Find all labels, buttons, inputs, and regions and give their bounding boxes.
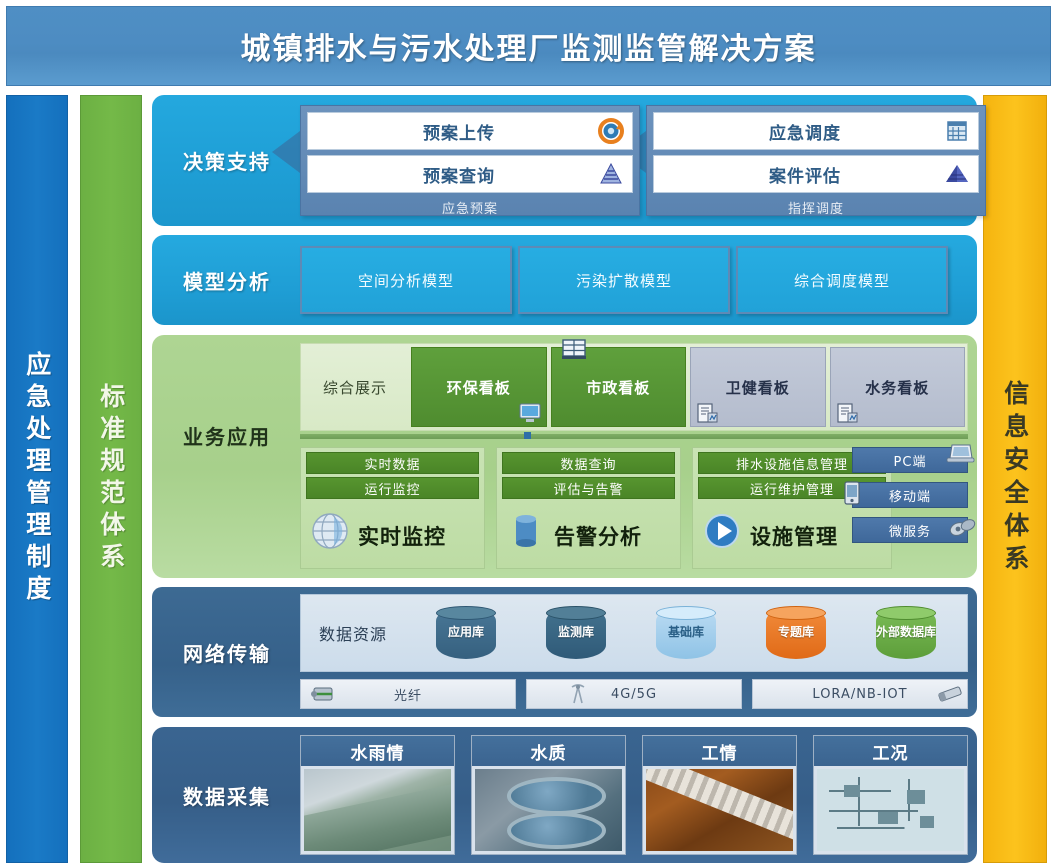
client-label: 微服务 bbox=[889, 521, 931, 540]
decision-item-plan-upload[interactable]: 预案上传 bbox=[307, 112, 633, 150]
database-label: 基础库 bbox=[668, 626, 704, 639]
database-external[interactable]: 外部数据库 bbox=[876, 607, 936, 659]
sidebar-emergency-label: 应急处理管理制度 bbox=[23, 351, 51, 607]
comprehensive-display-label: 综合展示 bbox=[301, 344, 409, 430]
layer-business-application: 业务应用 综合展示 环保看板 市政看板 bbox=[152, 335, 977, 578]
decision-item-label: 预案查询 bbox=[308, 162, 632, 187]
fiber-spool-icon bbox=[309, 683, 339, 705]
client-endpoints: PC端 移动端 微服务 bbox=[852, 447, 968, 569]
board-label: 环保看板 bbox=[447, 377, 511, 398]
window-icon bbox=[560, 338, 588, 362]
board-municipal[interactable]: 市政看板 bbox=[551, 347, 687, 427]
database-label: 专题库 bbox=[778, 626, 814, 639]
decision-item-case-evaluation[interactable]: 案件评估 bbox=[653, 155, 979, 193]
app-tag[interactable]: 数据查询 bbox=[502, 452, 675, 474]
layer-business-label: 业务应用 bbox=[152, 390, 302, 480]
app-main-alarm-analysis[interactable]: 告警分析 bbox=[502, 505, 675, 567]
comprehensive-display-strip: 综合展示 环保看板 市政看板 bbox=[300, 343, 968, 431]
board-label: 市政看板 bbox=[586, 377, 650, 398]
app-tag[interactable]: 评估与告警 bbox=[502, 477, 675, 499]
database-thematic[interactable]: 专题库 bbox=[766, 607, 826, 659]
play-circle-icon bbox=[700, 509, 744, 553]
data-resource-panel: 数据资源 应用库 监测库 基础库 bbox=[300, 594, 968, 672]
decision-item-plan-query[interactable]: 预案查询 bbox=[307, 155, 633, 193]
transport-fiber[interactable]: 光纤 bbox=[300, 679, 516, 709]
client-mobile[interactable]: 移动端 bbox=[852, 482, 968, 508]
data-resource-label: 数据资源 bbox=[301, 621, 405, 645]
app-tag[interactable]: 运行监控 bbox=[306, 477, 479, 499]
decision-item-label: 应急调度 bbox=[654, 119, 978, 144]
decision-group-command-dispatch: 应急调度 案件评估 指挥调度 bbox=[646, 105, 986, 216]
sidebar-information-security: 信息安全体系 bbox=[983, 95, 1047, 863]
database-label: 应用库 bbox=[448, 626, 484, 639]
architecture-diagram: 城镇排水与污水处理厂监测监管解决方案 应急处理管理制度 标准规范体系 信息安全体… bbox=[0, 0, 1055, 868]
display-strip-underline bbox=[300, 434, 968, 439]
decision-item-label: 案件评估 bbox=[654, 162, 978, 187]
report-icon bbox=[835, 402, 859, 424]
client-label: PC端 bbox=[894, 451, 927, 470]
transport-label: 4G/5G bbox=[611, 687, 657, 702]
sensor-device-icon bbox=[935, 683, 965, 705]
database-icon bbox=[504, 509, 548, 553]
layer-model-label: 模型分析 bbox=[152, 235, 302, 325]
data-source-list: 水雨情 水质 工情 工况 bbox=[300, 735, 968, 855]
layer-decision-support: 决策支持 预案上传 预案查询 bbox=[152, 95, 977, 226]
data-source-water-quality[interactable]: 水质 bbox=[471, 735, 626, 855]
board-label: 水务看板 bbox=[865, 377, 929, 398]
cylinder-top bbox=[766, 606, 826, 620]
report-icon bbox=[695, 402, 719, 424]
sidebar-standard-system: 标准规范体系 bbox=[80, 95, 142, 863]
data-source-title: 水雨情 bbox=[301, 736, 454, 766]
database-label: 外部数据库 bbox=[876, 626, 936, 639]
data-source-works[interactable]: 工情 bbox=[642, 735, 797, 855]
model-box-pollution[interactable]: 污染扩散模型 bbox=[518, 246, 730, 314]
board-environment[interactable]: 环保看板 bbox=[411, 347, 547, 427]
transport-label: 光纤 bbox=[394, 685, 422, 704]
app-column-realtime: 实时数据 运行监控 实时监控 bbox=[300, 447, 485, 569]
data-source-title: 水质 bbox=[472, 736, 625, 766]
antenna-tower-icon bbox=[563, 683, 593, 705]
mobile-phone-icon bbox=[841, 480, 863, 506]
database-list: 应用库 监测库 基础库 专题库 bbox=[405, 607, 967, 659]
transport-cellular[interactable]: 4G/5G bbox=[526, 679, 742, 709]
layer-network-transmission: 网络传输 数据资源 应用库 监测库 基础库 bbox=[152, 587, 977, 717]
page-title: 城镇排水与污水处理厂监测监管解决方案 bbox=[241, 24, 817, 68]
decision-item-emergency-dispatch[interactable]: 应急调度 bbox=[653, 112, 979, 150]
client-pc[interactable]: PC端 bbox=[852, 447, 968, 473]
pyramid-solid-icon bbox=[944, 161, 970, 187]
pyramid-icon bbox=[598, 161, 624, 187]
treatment-basins-photo bbox=[475, 769, 622, 851]
app-tag[interactable]: 实时数据 bbox=[306, 452, 479, 474]
client-microservice[interactable]: 微服务 bbox=[852, 517, 968, 543]
client-label: 移动端 bbox=[889, 486, 931, 505]
transport-lora[interactable]: LORA/NB-IOT bbox=[752, 679, 968, 709]
sidebar-emergency-management: 应急处理管理制度 bbox=[6, 95, 68, 863]
data-source-title: 工况 bbox=[814, 736, 967, 766]
calendar-grid-icon bbox=[944, 118, 970, 144]
data-source-rainfall[interactable]: 水雨情 bbox=[300, 735, 455, 855]
app-main-label: 实时监控 bbox=[358, 521, 446, 551]
app-main-label: 设施管理 bbox=[750, 521, 838, 551]
database-application[interactable]: 应用库 bbox=[436, 607, 496, 659]
laptop-icon bbox=[945, 442, 975, 466]
data-source-title: 工情 bbox=[643, 736, 796, 766]
board-label: 卫健看板 bbox=[726, 377, 790, 398]
transport-row: 光纤 4G/5G LORA/NB-IOT bbox=[300, 679, 968, 709]
sidebar-standard-label: 标准规范体系 bbox=[97, 383, 125, 575]
cylinder-top bbox=[656, 606, 716, 620]
database-label: 监测库 bbox=[558, 626, 594, 639]
model-box-dispatch[interactable]: 综合调度模型 bbox=[736, 246, 948, 314]
canal-photo bbox=[304, 769, 451, 851]
board-water-affairs[interactable]: 水务看板 bbox=[830, 347, 966, 427]
decision-item-label: 预案上传 bbox=[308, 119, 632, 144]
decision-group-emergency-plan: 预案上传 预案查询 应急预案 bbox=[300, 105, 640, 216]
arrow-to-plan-group bbox=[272, 131, 300, 173]
monitor-icon bbox=[518, 402, 542, 424]
layer-network-label: 网络传输 bbox=[152, 587, 302, 717]
board-health[interactable]: 卫健看板 bbox=[690, 347, 826, 427]
buried-pipe-photo bbox=[646, 769, 793, 851]
process-schematic bbox=[817, 769, 964, 851]
page-title-bar: 城镇排水与污水处理厂监测监管解决方案 bbox=[6, 6, 1051, 86]
layer-data-acquisition: 数据采集 水雨情 水质 工情 工况 bbox=[152, 727, 977, 863]
decision-group-caption: 指挥调度 bbox=[653, 198, 979, 217]
gears-icon bbox=[947, 516, 977, 540]
globe-icon bbox=[308, 509, 352, 553]
layer-model-analysis: 模型分析 空间分析模型 污染扩散模型 综合调度模型 bbox=[152, 235, 977, 325]
layer-stack: 决策支持 预案上传 预案查询 bbox=[152, 95, 977, 863]
app-main-realtime-monitor[interactable]: 实时监控 bbox=[306, 505, 479, 567]
cylinder-top bbox=[546, 606, 606, 620]
app-main-label: 告警分析 bbox=[554, 521, 642, 551]
database-basic[interactable]: 基础库 bbox=[656, 607, 716, 659]
app-column-alarm: 数据查询 评估与告警 告警分析 bbox=[496, 447, 681, 569]
model-box-spatial[interactable]: 空间分析模型 bbox=[300, 246, 512, 314]
database-monitoring[interactable]: 监测库 bbox=[546, 607, 606, 659]
layer-data-label: 数据采集 bbox=[152, 727, 302, 863]
cylinder-top bbox=[436, 606, 496, 620]
cylinder-top bbox=[876, 606, 936, 620]
data-source-condition[interactable]: 工况 bbox=[813, 735, 968, 855]
sidebar-security-label: 信息安全体系 bbox=[1001, 380, 1029, 578]
transport-label: LORA/NB-IOT bbox=[812, 687, 907, 702]
refresh-cycle-icon bbox=[598, 118, 624, 144]
decision-group-caption: 应急预案 bbox=[307, 198, 633, 217]
display-strip-marker bbox=[524, 432, 531, 439]
